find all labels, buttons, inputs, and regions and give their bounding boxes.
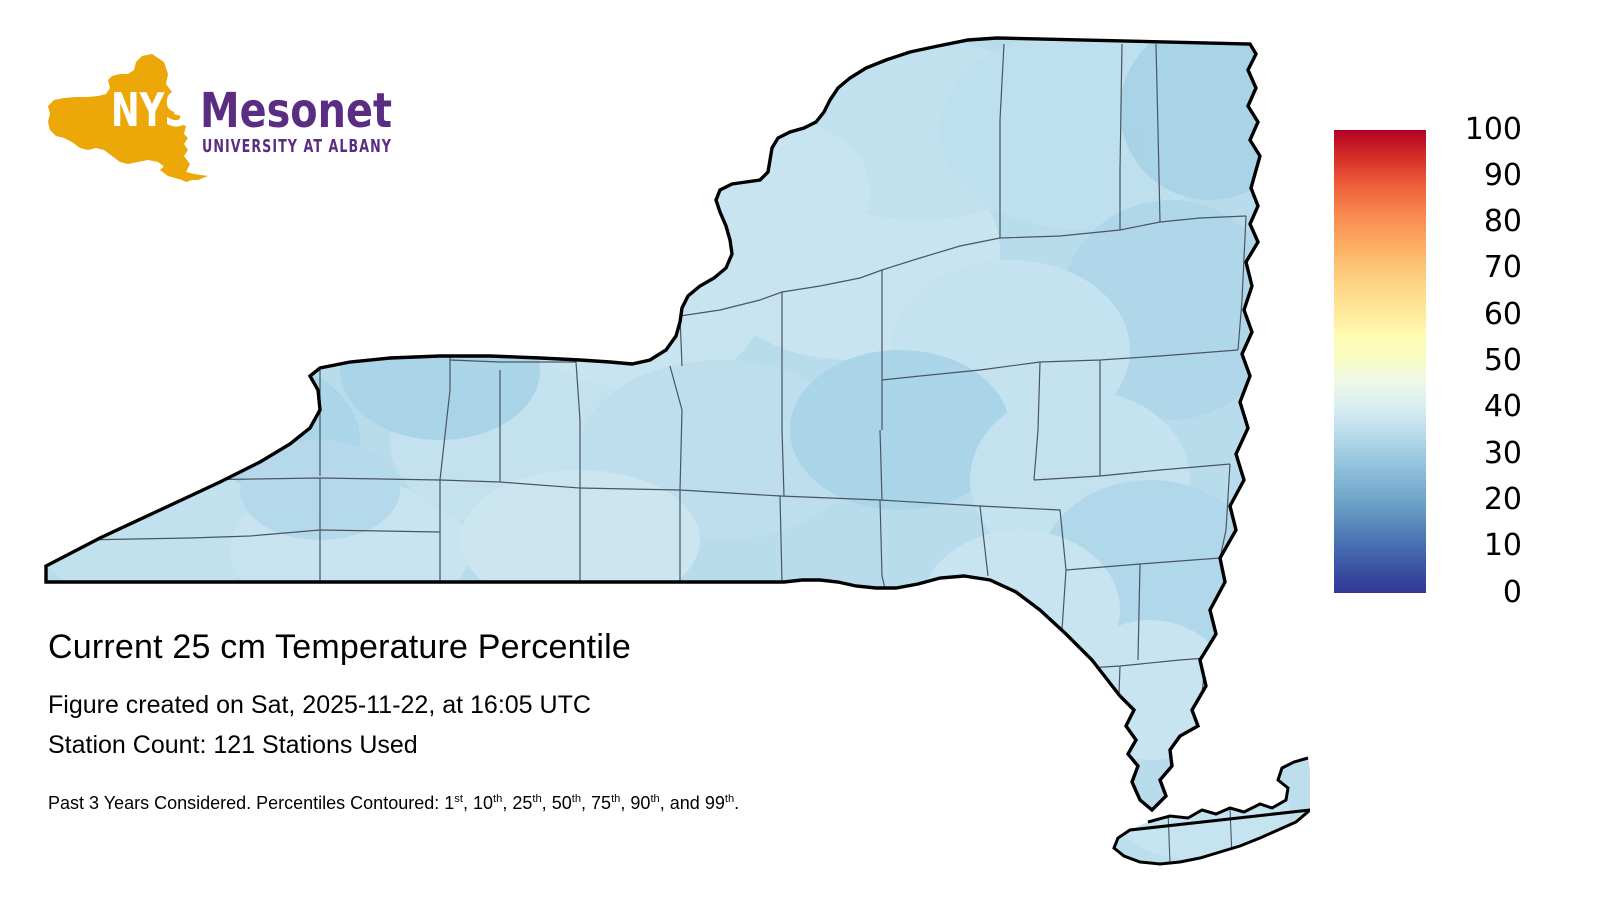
svg-text:UNIVERSITY AT ALBANY: UNIVERSITY AT ALBANY bbox=[202, 136, 392, 157]
colorbar-tick-80: 80 bbox=[1430, 207, 1522, 237]
colorbar-tick-30: 30 bbox=[1430, 439, 1522, 469]
colorbar-tick-50: 50 bbox=[1430, 346, 1522, 376]
figure-caption-block: Current 25 cm Temperature Percentile Fig… bbox=[48, 625, 1048, 815]
logo-university-text: UNIVERSITY AT ALBANY bbox=[202, 136, 392, 157]
colorbar-tick-90: 90 bbox=[1430, 161, 1522, 191]
station-count-line: Station Count: 121 Stations Used bbox=[48, 725, 1048, 765]
colorbar-tick-0: 0 bbox=[1430, 578, 1522, 608]
colorbar-gradient bbox=[1334, 130, 1426, 593]
svg-text:Mesonet: Mesonet bbox=[200, 83, 392, 139]
figure-canvas: NYS Mesonet UNIVERSITY AT ALBANY 100 90 … bbox=[0, 0, 1600, 900]
colorbar-tick-70: 70 bbox=[1430, 253, 1522, 283]
colorbar-tick-labels: 100 90 80 70 60 50 40 30 20 10 0 bbox=[1430, 130, 1530, 593]
colorbar-tick-20: 20 bbox=[1430, 485, 1522, 515]
colorbar-tick-10: 10 bbox=[1430, 531, 1522, 561]
logo-nys-text: NYS bbox=[111, 83, 189, 137]
figure-created-line: Figure created on Sat, 2025-11-22, at 16… bbox=[48, 685, 1048, 725]
percentile-footnote: Past 3 Years Considered. Percentiles Con… bbox=[48, 791, 1048, 815]
percentile-colorbar: 100 90 80 70 60 50 40 30 20 10 0 bbox=[1334, 130, 1534, 600]
nys-mesonet-logo: NYS Mesonet UNIVERSITY AT ALBANY bbox=[48, 52, 408, 182]
colorbar-tick-40: 40 bbox=[1430, 392, 1522, 422]
colorbar-tick-60: 60 bbox=[1430, 300, 1522, 330]
colorbar-tick-100: 100 bbox=[1430, 115, 1522, 145]
logo-mesonet-text: Mesonet bbox=[200, 83, 392, 139]
page-title: Current 25 cm Temperature Percentile bbox=[48, 625, 1048, 669]
svg-text:NYS: NYS bbox=[111, 83, 189, 137]
